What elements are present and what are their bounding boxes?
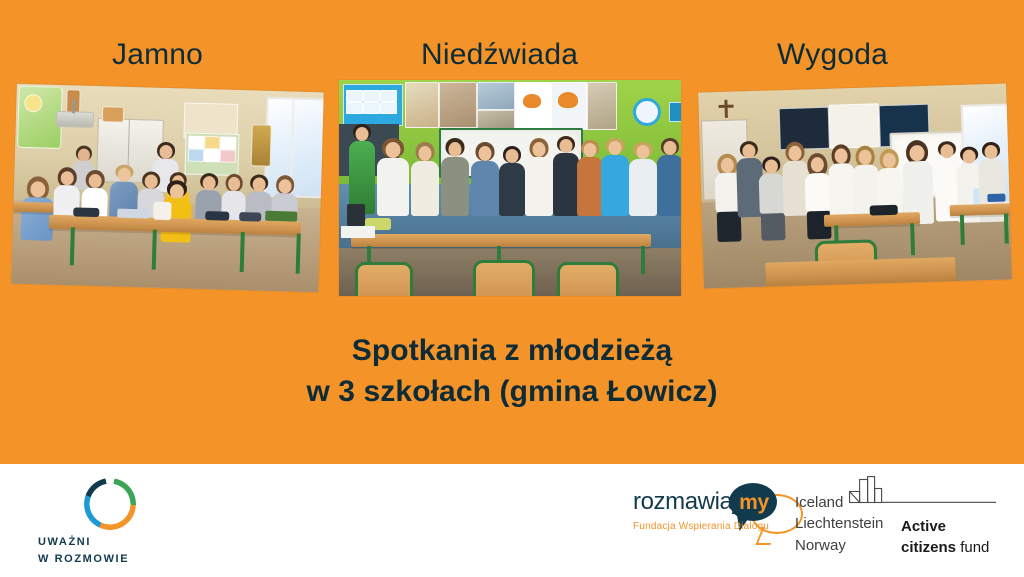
wall-clock xyxy=(633,98,661,126)
poster-card xyxy=(380,102,397,114)
photo-wygoda xyxy=(698,83,1012,288)
water-bottle xyxy=(973,188,979,204)
crucifix xyxy=(724,100,728,118)
logo-uwazni-line2: W ROZMOWIE xyxy=(38,551,214,568)
drawing xyxy=(188,136,204,149)
active-citizens-fund-wordmark: Active citizens fund xyxy=(901,516,989,559)
page-title-line2: w 3 szkołach (gmina Łowicz) xyxy=(0,371,1024,412)
pencil-case xyxy=(205,211,229,221)
footer-logo-bar: UWAŻNI W ROZMOWIE rozmawiaj my Fundacja … xyxy=(0,464,1024,577)
poster-card xyxy=(346,90,363,102)
eea-country-liechtenstein: Liechtenstein xyxy=(795,513,883,534)
acf-word-active: Active xyxy=(901,518,946,535)
eea-country-norway: Norway xyxy=(795,535,883,556)
person xyxy=(349,124,375,214)
person xyxy=(601,138,629,216)
chair xyxy=(355,262,413,296)
photo-caption-jamno: Jamno xyxy=(112,40,203,70)
eea-country-iceland: Iceland xyxy=(795,492,883,513)
drawing xyxy=(220,136,236,149)
photo-jamno-scene xyxy=(11,84,323,292)
logo-rozmawiaj-my: rozmawiaj my Fundacja Wspierania Dialogu xyxy=(633,480,783,560)
desk-leg xyxy=(641,246,645,274)
art-panel xyxy=(669,102,681,122)
poster-card xyxy=(380,90,397,102)
nature-poster xyxy=(477,110,515,130)
drawing xyxy=(204,136,220,149)
drawing xyxy=(220,149,236,162)
desk xyxy=(13,202,53,213)
wall-poster xyxy=(829,103,880,148)
pencil-case xyxy=(73,207,99,217)
nature-poster xyxy=(439,82,477,128)
notebook xyxy=(117,209,149,219)
window-plant xyxy=(251,124,272,167)
logo-rozmawiaj-suffix: my xyxy=(733,492,775,513)
logo-eea-active-citizens-fund: Iceland Liechtenstein Norway Active citi… xyxy=(795,476,1000,566)
pencil-case xyxy=(870,205,898,216)
photo-niedzwiada xyxy=(339,80,681,296)
chair xyxy=(473,260,535,296)
book xyxy=(265,211,297,222)
person xyxy=(657,138,681,216)
nature-poster xyxy=(587,82,617,130)
logo-rozmawiaj-tagline: Fundacja Wspierania Dialogu xyxy=(633,521,769,532)
desk-leg xyxy=(960,215,965,245)
desk xyxy=(351,234,651,247)
eea-country-list: Iceland Liechtenstein Norway xyxy=(795,492,883,556)
projector-mount xyxy=(72,99,75,113)
person xyxy=(411,142,439,216)
desk-leg xyxy=(1004,213,1009,243)
butterfly xyxy=(558,92,578,108)
butterfly xyxy=(523,94,541,108)
acf-word-fund: fund xyxy=(960,539,989,556)
pencil-case xyxy=(987,194,1005,203)
person xyxy=(629,142,657,216)
pencil-case xyxy=(239,212,261,222)
page-title: Spotkania z młodzieżą w 3 szkołach (gmin… xyxy=(0,330,1024,413)
logo-uwazni-line1: UWAŻNI xyxy=(38,534,214,551)
person xyxy=(377,138,409,216)
circle-ring-icon xyxy=(84,478,136,530)
crucifix xyxy=(719,105,734,108)
logo-rozmawiaj-word: rozmawiaj xyxy=(633,490,737,514)
slide-root: Jamno Niedźwiada Wygoda xyxy=(0,0,1024,577)
photo-wygoda-scene xyxy=(698,83,1012,288)
photo-caption-niedzwiada: Niedźwiada xyxy=(421,40,578,70)
pen-pot xyxy=(347,204,365,226)
cup xyxy=(153,202,171,220)
person xyxy=(471,142,499,216)
photo-niedzwiada-scene xyxy=(339,80,681,296)
paper xyxy=(341,226,375,238)
acf-word-citizens: citizens xyxy=(901,539,956,556)
person xyxy=(499,146,525,216)
slide-background: Jamno Niedźwiada Wygoda xyxy=(0,0,1024,464)
circle-ring-segments xyxy=(84,478,136,530)
person xyxy=(553,136,579,216)
person xyxy=(525,138,553,216)
desk xyxy=(765,257,956,287)
logo-uwazni-w-rozmowie: UWAŻNI W ROZMOWIE xyxy=(38,474,218,569)
drawing xyxy=(188,149,204,162)
person xyxy=(577,140,603,216)
nature-poster xyxy=(477,82,515,110)
cabinet-top-item xyxy=(102,106,124,123)
nature-poster xyxy=(405,82,439,128)
drawing xyxy=(204,149,220,162)
photo-caption-wygoda: Wygoda xyxy=(777,40,888,70)
photo-jamno xyxy=(11,84,323,292)
poster-card xyxy=(363,90,380,102)
logo-uwazni-text: UWAŻNI W ROZMOWIE xyxy=(38,534,214,568)
page-title-line1: Spotkania z młodzieżą xyxy=(352,334,673,367)
chair xyxy=(557,262,619,296)
poster-card xyxy=(363,102,380,114)
person xyxy=(441,138,469,216)
poster-card xyxy=(346,102,363,114)
